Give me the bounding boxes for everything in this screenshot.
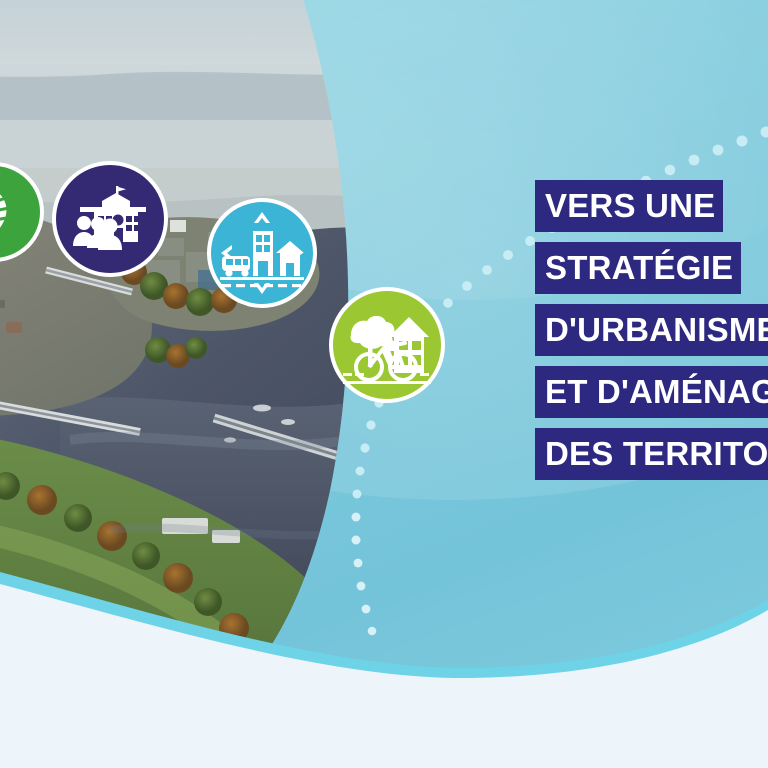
title-line-2: STRATÉGIE: [535, 242, 741, 294]
title-line-4: ET D'AMÉNAGEMENT: [535, 366, 768, 418]
poster-canvas: VERS UNE STRATÉGIE D'URBANISME ET D'AMÉN…: [0, 0, 768, 768]
title-line-5: DES TERRITOIRES: [535, 428, 768, 480]
poster-title: VERS UNE STRATÉGIE D'URBANISME ET D'AMÉN…: [535, 180, 768, 480]
green-living-cyclist-icon[interactable]: [329, 287, 445, 403]
title-line-3: D'URBANISME: [535, 304, 768, 356]
title-line-1: VERS UNE: [535, 180, 723, 232]
bottom-wave-decoration: [0, 538, 768, 768]
school-community-icon[interactable]: [52, 161, 168, 277]
mobility-transit-icon[interactable]: [207, 198, 317, 308]
